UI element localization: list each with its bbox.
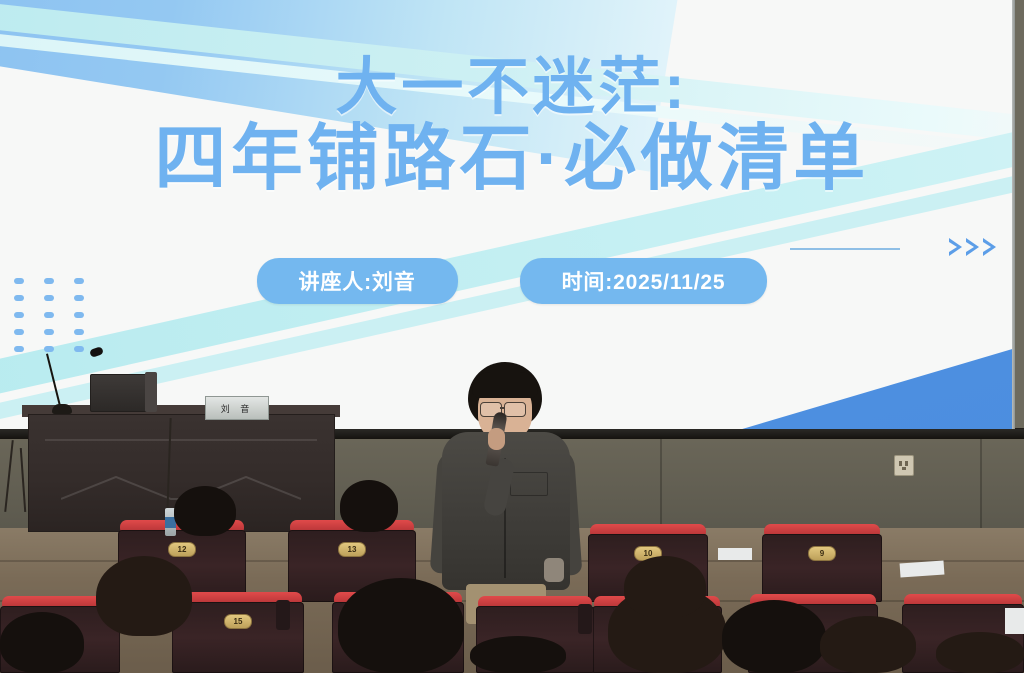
lecture-hall-screenshot: 大一不迷茫: 四年铺路石·必做清单 讲座人:刘音 时间:2025/11/25: [0, 0, 1024, 673]
audience-head: [340, 480, 398, 532]
seat-number-plate: 15: [224, 614, 252, 629]
dot-icon: [74, 346, 84, 352]
dot-icon: [14, 329, 24, 335]
dot-icon: [44, 295, 54, 301]
audience-head: [722, 600, 826, 673]
wall-seam: [980, 436, 982, 532]
speaker-sleeve-cuff: [544, 558, 564, 582]
wall-outlet-icon: [894, 455, 914, 476]
badge-date: 时间:2025/11/25: [520, 258, 768, 304]
decorative-rule: [790, 248, 900, 250]
desk-paper: [1005, 608, 1024, 634]
speaker-glasses-right-lens: [504, 402, 526, 417]
decorative-chevron-group: [949, 238, 996, 256]
dot-icon: [74, 295, 84, 301]
dot-icon: [74, 312, 84, 318]
seat-armrest: [276, 600, 290, 630]
dot-icon: [44, 329, 54, 335]
dot-icon: [44, 278, 54, 284]
seat-back: [762, 534, 882, 602]
speaker-person: [432, 362, 580, 620]
podium-laptop-hinge: [145, 372, 157, 412]
seat-number-plate: 9: [808, 546, 836, 561]
dot-icon: [74, 329, 84, 335]
audience-head: [936, 632, 1024, 673]
dot-icon: [14, 312, 24, 318]
dot-icon: [74, 278, 84, 284]
seat-number-plate: 13: [338, 542, 366, 557]
chevron-right-icon: [983, 238, 996, 256]
audience-head: [96, 556, 192, 636]
dot-icon: [14, 278, 24, 284]
speaker-glasses-bridge: [500, 407, 505, 409]
speaker-jacket-pocket: [510, 472, 548, 496]
audience-head: [470, 636, 566, 673]
dot-icon: [14, 346, 24, 352]
seat-armrest: [578, 604, 592, 634]
audience-head: [820, 616, 916, 673]
desk-paper: [718, 548, 752, 560]
chevron-right-icon: [966, 238, 979, 256]
dot-icon: [44, 312, 54, 318]
audience-head: [624, 556, 706, 618]
audience-head: [174, 486, 236, 536]
seat-number-plate: 12: [168, 542, 196, 557]
slide-badge-row: 讲座人:刘音 时间:2025/11/25: [0, 258, 1014, 304]
dot-icon: [44, 346, 54, 352]
dot-icon: [14, 295, 24, 301]
speaker-fringe: [472, 372, 538, 398]
podium-nameplate: 刘 音: [205, 396, 269, 420]
podium-microphone-base: [52, 404, 72, 414]
speaker-hand: [488, 428, 505, 450]
audience-head: [0, 612, 84, 673]
chevron-right-icon: [949, 238, 962, 256]
podium-groove: [45, 439, 317, 441]
screen-right-edge: [1012, 0, 1015, 437]
wall-seam: [660, 436, 662, 532]
badge-speaker: 讲座人:刘音: [257, 258, 458, 304]
seat[interactable]: 9: [762, 524, 882, 602]
audience-head: [338, 578, 464, 673]
